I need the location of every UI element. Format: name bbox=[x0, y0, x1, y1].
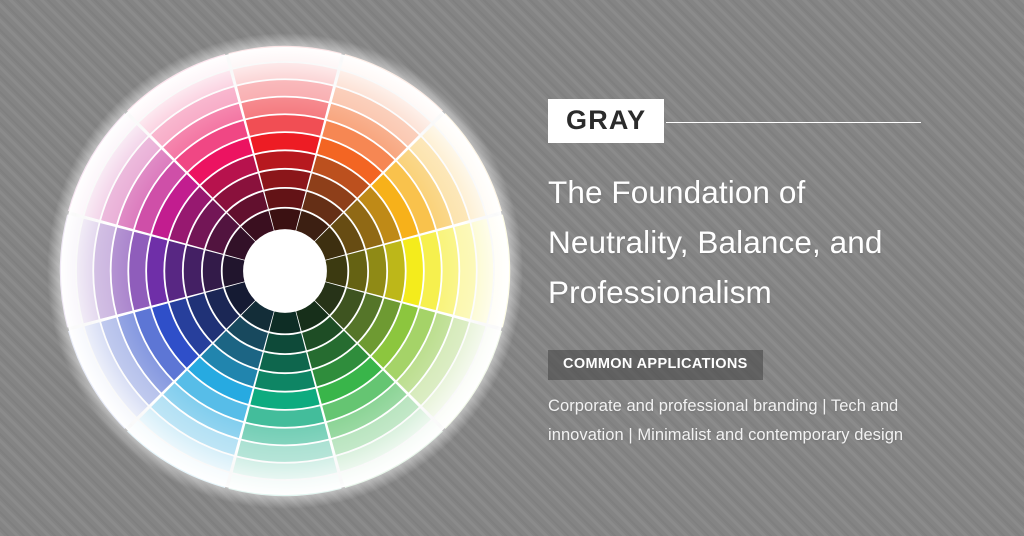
headline-line-3: Professionalism bbox=[548, 267, 968, 317]
wheel-segment-red-1 bbox=[269, 209, 300, 231]
headline: The Foundation of Neutrality, Balance, a… bbox=[548, 167, 968, 317]
infographic-canvas: GRAY The Foundation of Neutrality, Balan… bbox=[0, 0, 1024, 536]
wheel-segment-teal-2 bbox=[264, 333, 305, 353]
headline-line-1: The Foundation of bbox=[548, 167, 968, 217]
wheel-segment-yellow-1 bbox=[326, 255, 348, 286]
color-name-badge: GRAY bbox=[548, 99, 664, 143]
wheel-segment-violet-1 bbox=[223, 255, 245, 286]
wheel-segment-teal-3 bbox=[260, 352, 311, 372]
wheel-segment-teal-1 bbox=[269, 312, 300, 334]
content-column: GRAY The Foundation of Neutrality, Balan… bbox=[548, 0, 988, 536]
common-applications-badge: COMMON APPLICATIONS bbox=[548, 350, 763, 380]
label-rule-divider bbox=[666, 122, 921, 123]
wheel-segment-violet-3 bbox=[184, 246, 204, 297]
wheel-center-hole bbox=[246, 232, 324, 310]
wheel-segment-red-2 bbox=[264, 189, 305, 209]
wheel-segment-yellow-3 bbox=[366, 246, 386, 297]
wheel-segment-yellow-2 bbox=[347, 250, 367, 291]
wheel-segment-violet-2 bbox=[203, 250, 223, 291]
headline-line-2: Neutrality, Balance, and bbox=[548, 217, 968, 267]
color-name-row: GRAY bbox=[548, 98, 988, 144]
color-wheel-icon bbox=[46, 32, 524, 510]
wheel-segment-red-3 bbox=[260, 170, 311, 190]
common-applications-description: Corporate and professional branding | Te… bbox=[548, 392, 960, 450]
color-wheel bbox=[46, 32, 524, 510]
